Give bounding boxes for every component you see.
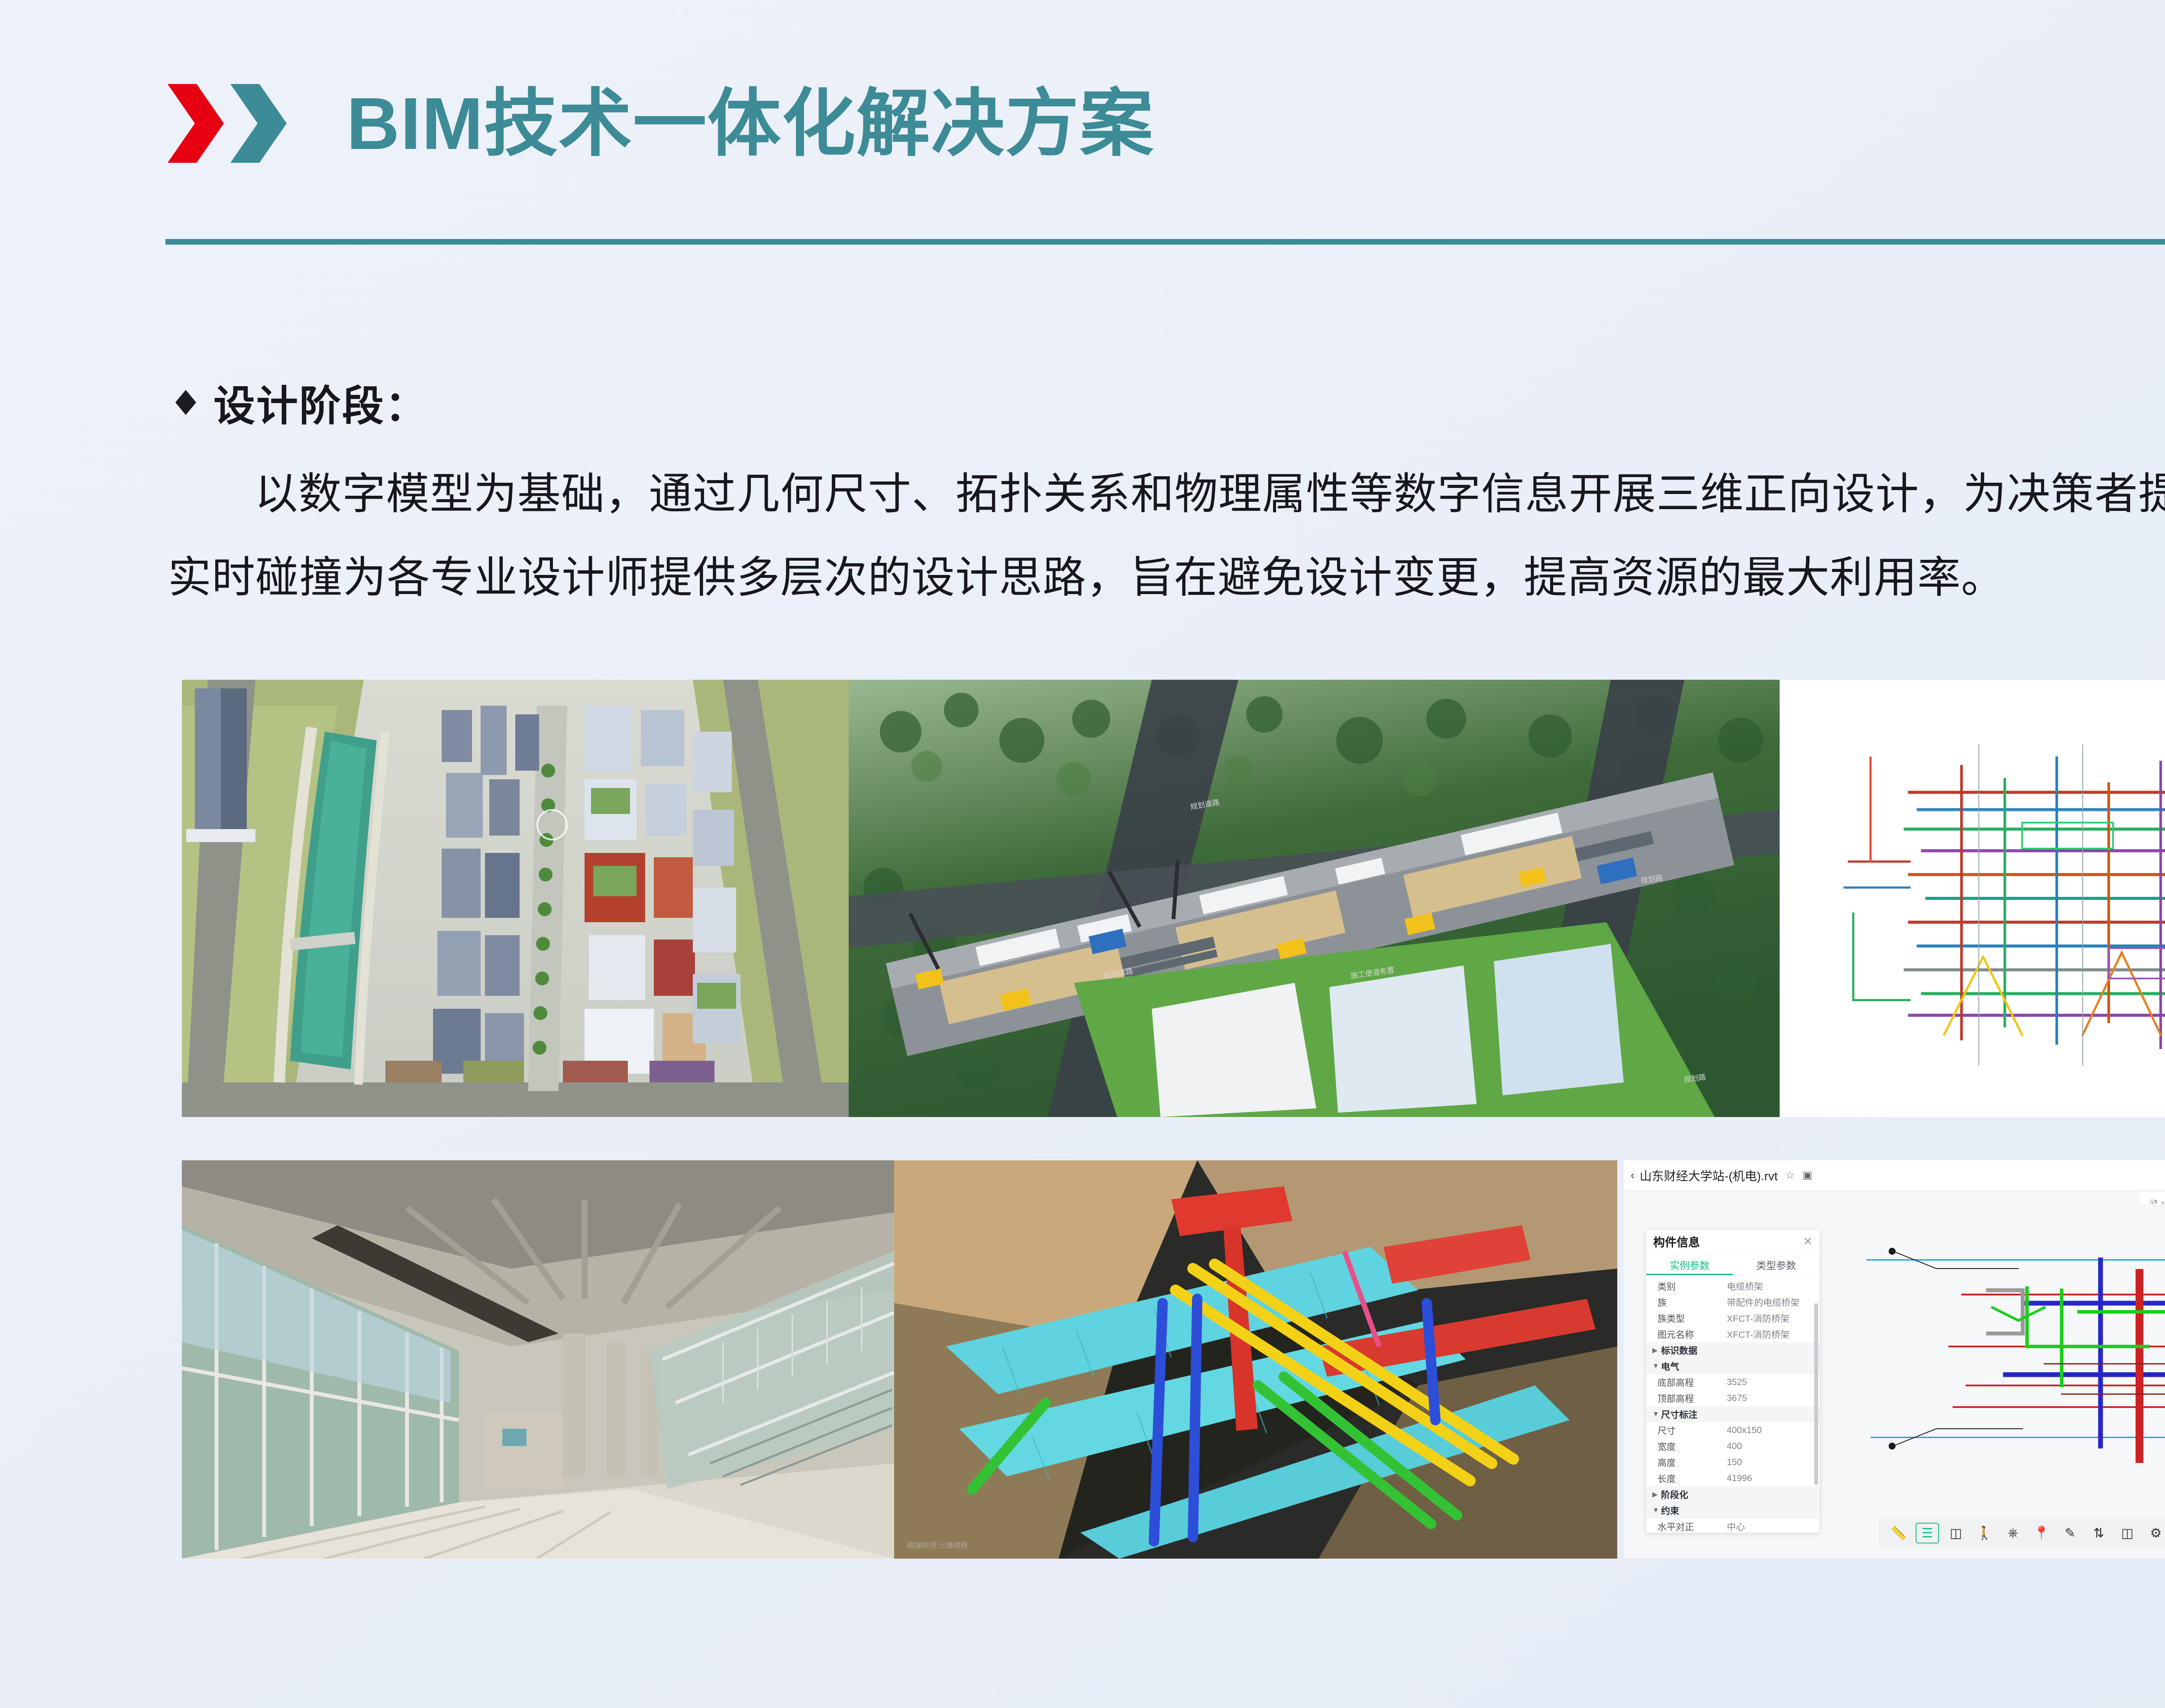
gallery-row-1: 规划道路 施工便道布置 规划路 规划道路 规划路 xyxy=(182,680,2165,1117)
prop-key: 电气 xyxy=(1661,1360,1730,1373)
panel-scrollbar[interactable] xyxy=(1814,1303,1818,1485)
construction-site-render: 规划道路 施工便道布置 规划路 规划道路 规划路 xyxy=(849,680,1780,1117)
caret-down-icon: ▼ xyxy=(1652,1507,1661,1514)
property-group-row[interactable]: ▼尺寸标注 xyxy=(1646,1406,1819,1422)
star-outline-icon[interactable]: ☆ xyxy=(1786,1169,1795,1182)
caret-down-icon: ▼ xyxy=(1652,1411,1661,1418)
bim-model-canvas[interactable] xyxy=(1819,1204,2165,1511)
panel-header: 构件信息 ✕ xyxy=(1646,1230,1819,1254)
body-paragraph: 以数字模型为基础，通过几何尺寸、拓扑关系和物理属性等数字信息开展三维正向设计，为… xyxy=(168,452,2165,620)
property-row[interactable]: 水平对正中心 xyxy=(1646,1518,1819,1533)
clash-detection-model: 碰撞检测 三维校核 xyxy=(894,1160,1617,1559)
prop-value: XFCT-消防桥架 xyxy=(1727,1312,1790,1325)
settings-tool[interactable]: ⚙ xyxy=(2144,1523,2165,1543)
section-heading-label: 设计阶段： xyxy=(213,372,428,433)
prop-key: 族类型 xyxy=(1658,1312,1727,1325)
property-row[interactable]: 族带配件的电缆桥架 xyxy=(1646,1294,1819,1310)
section-tool[interactable]: ◫ xyxy=(1944,1523,1968,1543)
tab-type-params[interactable]: 类型参数 xyxy=(1733,1254,1819,1275)
prop-key: 宽度 xyxy=(1658,1440,1727,1453)
urban-masterplan-graphic xyxy=(182,680,849,1117)
location-tool[interactable]: 📍 xyxy=(2030,1523,2053,1543)
property-row[interactable]: 图元名称XFCT-消防桥架 xyxy=(1646,1326,1819,1342)
prop-value: 3525 xyxy=(1727,1377,1747,1388)
prop-value: 41996 xyxy=(1727,1473,1752,1484)
property-row[interactable]: 尺寸400x150 xyxy=(1646,1422,1819,1438)
measure-tool[interactable]: 📏 xyxy=(1887,1523,1910,1543)
property-group-row[interactable]: ▼电气 xyxy=(1646,1358,1819,1374)
property-row[interactable]: 宽度400 xyxy=(1646,1438,1819,1454)
mep-network-model xyxy=(1780,680,2165,1117)
construction-site-graphic: 规划道路 施工便道布置 规划路 规划道路 规划路 xyxy=(849,680,1780,1117)
property-row[interactable]: 高度150 xyxy=(1646,1454,1819,1470)
back-chevron-icon[interactable]: ‹ xyxy=(1631,1169,1635,1182)
close-icon[interactable]: ✕ xyxy=(1803,1235,1813,1248)
property-row[interactable]: 顶部高程3675 xyxy=(1646,1390,1819,1406)
bim-model-graphic xyxy=(1819,1204,2165,1511)
prop-value: 400x150 xyxy=(1727,1425,1762,1436)
property-group-row[interactable]: ▶标识数据 xyxy=(1646,1342,1819,1358)
property-row[interactable]: 底部高程3525 xyxy=(1646,1374,1819,1390)
chevron-decoration xyxy=(165,82,308,165)
prop-key: 长度 xyxy=(1658,1472,1727,1485)
model-tree-tool[interactable]: ⎈ xyxy=(2001,1523,2025,1543)
view-switch-tool[interactable]: ⇅ xyxy=(2087,1523,2110,1543)
property-list: 类别电缆桥架 族带配件的电缆桥架 族类型XFCT-消防桥架 图元名称XFCT-消… xyxy=(1646,1275,1819,1533)
interior-corridor-graphic xyxy=(182,1160,894,1559)
interior-corridor-render xyxy=(182,1160,894,1559)
prop-value: 150 xyxy=(1727,1457,1742,1468)
bim-viewer-topbar: ‹ 山东财经大学站-(机电).rvt ☆ ▣ xyxy=(1624,1160,2165,1191)
prop-value: 400 xyxy=(1727,1441,1742,1452)
panel-title: 构件信息 xyxy=(1653,1233,1700,1250)
property-group-row[interactable]: ▼约束 xyxy=(1646,1502,1819,1518)
prop-key: 族 xyxy=(1658,1296,1727,1309)
urban-masterplan-render xyxy=(182,680,849,1117)
prop-value: 带配件的电缆桥架 xyxy=(1727,1296,1800,1309)
svg-text:碰撞检测 三维校核: 碰撞检测 三维校核 xyxy=(907,1541,968,1550)
bim-cloud-viewer: ‹ 山东财经大学站-(机电).rvt ☆ ▣ 🖹 详情 ◎ 视点 📋 问题 xyxy=(1624,1160,2165,1559)
section-heading: 设计阶段： xyxy=(175,372,428,433)
prop-key: 水平对正 xyxy=(1658,1520,1727,1533)
gallery-row-2: 碰撞检测 三维校核 ‹ 山东财经大学站-(机电).rvt ☆ ▣ 🖹 详情 ◎ … xyxy=(182,1160,2165,1559)
mep-network-graphic xyxy=(1780,680,2165,1117)
box-view-tool[interactable]: ◫ xyxy=(2116,1523,2139,1543)
prop-key: 底部高程 xyxy=(1658,1376,1727,1389)
markup-tool[interactable]: ✎ xyxy=(2058,1523,2082,1543)
prop-value: 中心 xyxy=(1727,1520,1745,1533)
caret-right-icon: ▶ xyxy=(1652,1490,1661,1499)
caret-down-icon: ▼ xyxy=(1652,1363,1661,1370)
prop-key: 高度 xyxy=(1658,1456,1727,1469)
cube-icon[interactable]: ▣ xyxy=(1803,1169,1813,1182)
property-row[interactable]: 族类型XFCT-消防桥架 xyxy=(1646,1310,1819,1326)
walkthrough-tool[interactable]: 🚶 xyxy=(1973,1523,1996,1543)
property-row[interactable]: 长度41996 xyxy=(1646,1470,1819,1486)
prop-key: 阶段化 xyxy=(1661,1488,1730,1501)
slide-header: BIM技术一体化解决方案 济南黄河路桥建设集团有限公司 JINAN HUANGH… xyxy=(0,0,2165,260)
bim-filename: 山东财经大学站-(机电).rvt xyxy=(1640,1167,1778,1184)
component-info-panel: 构件信息 ✕ 实例参数 类型参数 类别电缆桥架 族带配件的电缆桥架 族类型XFC… xyxy=(1646,1230,1819,1533)
panel-tabs: 实例参数 类型参数 xyxy=(1646,1254,1819,1275)
diamond-bullet-icon xyxy=(175,390,196,415)
prop-value: 电缆桥架 xyxy=(1727,1280,1763,1293)
prop-value: 3675 xyxy=(1727,1393,1747,1404)
prop-key: 标识数据 xyxy=(1661,1344,1730,1357)
prop-key: 类别 xyxy=(1658,1280,1727,1293)
tab-instance-params[interactable]: 实例参数 xyxy=(1646,1254,1733,1275)
prop-value: XFCT-消防桥架 xyxy=(1727,1328,1790,1341)
bim-bottom-toolbar: 📏 ☰ ◫ 🚶 ⎈ 📍 ✎ ⇅ ◫ ⚙ ⬢ xyxy=(1878,1519,2165,1547)
header-divider xyxy=(165,239,2165,245)
double-chevron-icon xyxy=(165,82,308,165)
property-group-row[interactable]: ▶阶段化 xyxy=(1646,1486,1819,1502)
property-row[interactable]: 类别电缆桥架 xyxy=(1646,1278,1819,1294)
prop-key: 尺寸 xyxy=(1658,1424,1727,1437)
caret-right-icon: ▶ xyxy=(1652,1346,1661,1355)
prop-key: 尺寸标注 xyxy=(1661,1408,1730,1421)
page-title: BIM技术一体化解决方案 xyxy=(346,81,1154,167)
property-list-tool[interactable]: ☰ xyxy=(1916,1523,1939,1543)
prop-key: 约束 xyxy=(1661,1504,1730,1517)
prop-key: 图元名称 xyxy=(1658,1328,1727,1341)
clash-detection-graphic: 碰撞检测 三维校核 xyxy=(894,1160,1617,1559)
prop-key: 顶部高程 xyxy=(1658,1392,1727,1405)
